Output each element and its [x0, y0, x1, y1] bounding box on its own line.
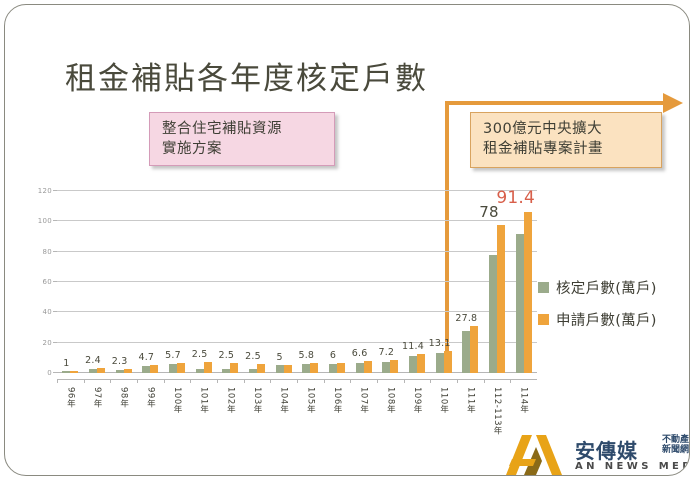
x-axis-tick-label: 105年 — [304, 387, 316, 414]
x-axis-tick-label: 100年 — [171, 387, 183, 414]
bar-applied — [204, 362, 212, 373]
bar-approved — [276, 365, 284, 373]
bar-data-label: 6.6 — [352, 348, 368, 359]
logo-chinese-name: 安傳媒 — [575, 435, 638, 464]
bar-applied — [124, 369, 132, 373]
bar-applied — [417, 354, 425, 373]
bar-data-label: 13.1 — [429, 338, 451, 349]
x-axis-tick — [164, 379, 165, 383]
x-axis-tick-label: 104年 — [278, 387, 290, 414]
x-axis-tick-label: 114年 — [518, 387, 530, 414]
bar-group — [510, 197, 537, 373]
bar-applied — [150, 365, 158, 373]
page-title: 租金補貼各年度核定戶數 — [65, 53, 428, 98]
y-axis-tick-label: 0 — [47, 369, 52, 377]
x-axis-tick — [110, 379, 111, 383]
bar-approved — [489, 255, 497, 373]
bar-data-label: 6 — [330, 350, 336, 361]
x-axis-tick — [297, 379, 298, 383]
bar-data-label: 2.5 — [192, 349, 208, 360]
bar-applied — [70, 371, 78, 373]
bar-data-label: 5.7 — [165, 350, 181, 361]
x-axis-tick-label: 102年 — [224, 387, 236, 414]
x-axis-tick — [324, 379, 325, 383]
x-axis-tick-label: 108年 — [384, 387, 396, 414]
bar-approved — [409, 356, 417, 373]
x-axis-tick — [217, 379, 218, 383]
bar-approved — [62, 371, 70, 373]
bar-data-label: 2.5 — [245, 351, 261, 362]
x-axis-tick — [484, 379, 485, 383]
bar-applied — [337, 363, 345, 373]
bar-group — [84, 197, 111, 373]
bar-data-label: 11.4 — [402, 341, 424, 352]
y-axis-tick-label: 100 — [38, 217, 52, 225]
y-axis-tick-label: 80 — [42, 248, 52, 256]
bar-group — [457, 197, 484, 373]
bar-data-label: 2.4 — [85, 355, 101, 366]
bar-group — [190, 197, 217, 373]
y-axis-tick-label: 20 — [42, 339, 52, 347]
bar-applied — [230, 363, 238, 373]
logo-english-name: AN NEWS MEDIA — [575, 461, 690, 472]
logo-subtitle-line-2: 新聞網 — [662, 445, 689, 455]
bar-group — [137, 197, 164, 373]
x-axis-tick-label: 110年 — [438, 387, 450, 414]
callout-line-2: 租金補貼專案計畫 — [483, 140, 651, 160]
bar-applied — [257, 364, 265, 373]
gridline — [57, 190, 537, 191]
x-axis-tick-label: 107年 — [358, 387, 370, 414]
bar-approved — [302, 364, 310, 373]
bar-chart: 020406080100120 12.42.34.75.72.52.52.555… — [23, 191, 543, 373]
bar-applied — [364, 361, 372, 373]
x-axis-tick — [430, 379, 431, 383]
bar-data-label: 91.4 — [496, 188, 535, 208]
callout-line-1: 整合住宅補貼資源 — [162, 120, 324, 140]
bar-applied — [177, 363, 185, 373]
x-axis-tick-label: 98年 — [118, 387, 130, 408]
y-axis-tick-label: 40 — [42, 308, 52, 316]
bar-data-label: 4.7 — [138, 352, 154, 363]
bar-data-label: 5 — [277, 352, 283, 363]
bar-applied — [97, 368, 105, 373]
bar-data-label: 27.8 — [455, 313, 477, 324]
bar-group — [244, 197, 271, 373]
bar-group — [217, 197, 244, 373]
bar-applied — [390, 360, 398, 373]
bar-applied — [470, 326, 478, 373]
x-axis-tick-label: 96年 — [64, 387, 76, 408]
x-axis-tick-label: 106年 — [331, 387, 343, 414]
x-axis-tick — [57, 379, 58, 383]
y-axis-tick — [53, 190, 57, 191]
bar-group — [57, 197, 84, 373]
bar-data-label: 5.8 — [298, 350, 314, 361]
slide-card: 租金補貼各年度核定戶數 整合住宅補貼資源 實施方案 300億元中央擴大 租金補貼… — [4, 4, 690, 476]
x-axis-tick-label: 112-113年 — [491, 387, 503, 435]
bar-groups: 12.42.34.75.72.52.52.555.866.67.211.413.… — [57, 197, 537, 373]
x-axis-tick-label: 103年 — [251, 387, 263, 414]
bar-data-label: 7.2 — [378, 347, 394, 358]
x-axis-tick — [190, 379, 191, 383]
x-axis-tick — [377, 379, 378, 383]
legend-label-applied: 申請戶數(萬戶) — [556, 309, 657, 330]
legend-label-approved: 核定戶數(萬戶) — [556, 277, 657, 298]
callout-line-2: 實施方案 — [162, 140, 324, 160]
chart-legend: 核定戶數(萬戶) 申請戶數(萬戶) — [538, 277, 657, 341]
bar-data-label: 2.3 — [112, 356, 128, 367]
bar-applied — [524, 212, 532, 373]
bar-approved — [169, 364, 177, 373]
bar-approved — [142, 366, 150, 373]
legend-item-applied: 申請戶數(萬戶) — [538, 309, 657, 330]
bar-approved — [436, 353, 444, 373]
bar-applied — [310, 363, 318, 373]
bar-approved — [222, 369, 230, 373]
x-axis-tick-label: 99年 — [144, 387, 156, 408]
x-axis-tick-label: 109年 — [411, 387, 423, 414]
bar-approved — [89, 369, 97, 373]
bar-approved — [382, 362, 390, 373]
bar-group — [164, 197, 191, 373]
y-axis-tick-label: 120 — [38, 187, 52, 195]
bar-group — [484, 197, 511, 373]
x-axis-tick — [510, 379, 511, 383]
callout-policy-integration: 整合住宅補貼資源 實施方案 — [149, 112, 335, 166]
logo-subtitle-line-1: 不動產 — [662, 435, 689, 445]
legend-swatch-approved — [538, 282, 549, 293]
an-monogram-icon — [502, 433, 570, 476]
bar-applied — [497, 225, 505, 373]
bar-approved — [462, 331, 470, 373]
plot-area: 020406080100120 12.42.34.75.72.52.52.555… — [57, 197, 537, 373]
callout-central-expansion: 300億元中央擴大 租金補貼專案計畫 — [470, 112, 662, 168]
bar-group — [110, 197, 137, 373]
y-axis-tick-label: 60 — [42, 278, 52, 286]
legend-swatch-applied — [538, 314, 549, 325]
x-axis-tick — [404, 379, 405, 383]
bar-group — [350, 197, 377, 373]
bar-approved — [249, 369, 257, 373]
bar-group — [270, 197, 297, 373]
logo-subtitle: 不動產 新聞網 — [662, 435, 689, 456]
x-axis-tick — [244, 379, 245, 383]
bar-applied — [284, 365, 292, 373]
an-news-media-logo: 安傳媒 不動產 新聞網 AN NEWS MEDIA — [502, 433, 690, 476]
bar-approved — [196, 369, 204, 373]
bar-data-label: 2.5 — [218, 350, 234, 361]
x-axis-tick-label: 111年 — [464, 387, 476, 414]
x-axis-tick — [137, 379, 138, 383]
x-axis-tick — [270, 379, 271, 383]
bar-approved — [516, 234, 524, 373]
x-axis-tick-label: 101年 — [198, 387, 210, 414]
bar-approved — [356, 363, 364, 373]
x-axis-tick — [84, 379, 85, 383]
bar-applied — [444, 351, 452, 373]
bar-group — [297, 197, 324, 373]
x-axis-tick — [457, 379, 458, 383]
bar-group — [324, 197, 351, 373]
bar-approved — [329, 364, 337, 373]
x-axis-tick-label: 97年 — [91, 387, 103, 408]
legend-item-approved: 核定戶數(萬戶) — [538, 277, 657, 298]
bar-approved — [116, 370, 124, 373]
x-axis-tick — [350, 379, 351, 383]
bar-data-label: 1 — [63, 358, 69, 369]
callout-line-1: 300億元中央擴大 — [483, 120, 651, 140]
